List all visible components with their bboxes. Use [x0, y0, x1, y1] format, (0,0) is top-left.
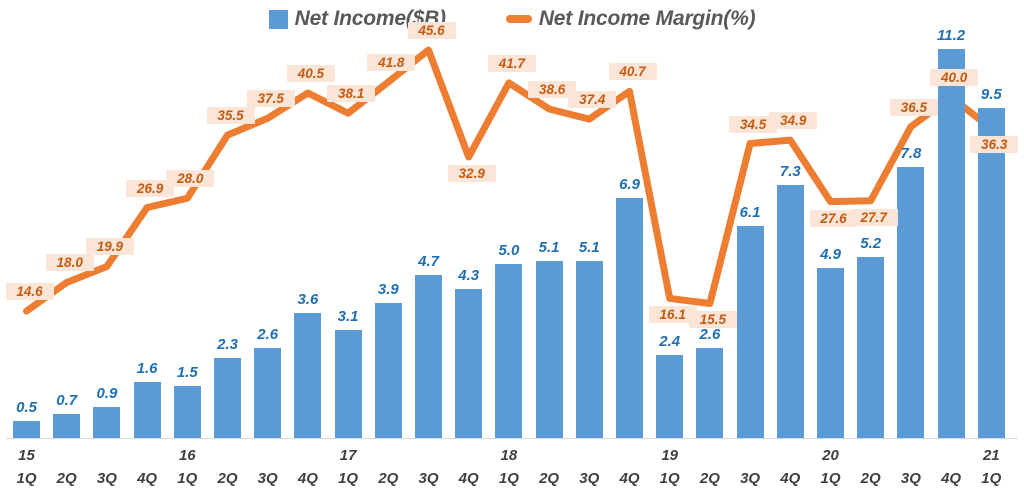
margin-value-label: 40.5 [287, 65, 335, 82]
x-axis-tick: 211Q [967, 444, 1015, 490]
margin-value-label: 36.5 [890, 99, 938, 116]
bar-2q[interactable] [53, 414, 80, 438]
margin-value-label: 38.1 [327, 85, 375, 102]
bar-4q[interactable] [938, 49, 965, 438]
x-axis-quarter-label: 1Q [967, 470, 1015, 487]
margin-value-label: 40.0 [930, 69, 978, 86]
bar-value-label: 7.8 [887, 145, 935, 162]
bar-value-label: 3.6 [284, 291, 332, 308]
bar-value-label: 2.6 [244, 326, 292, 343]
bar-value-label: 7.3 [766, 163, 814, 180]
bar-15-1q[interactable] [13, 421, 40, 438]
bar-16-1q[interactable] [174, 386, 201, 438]
margin-value-label: 14.6 [6, 283, 54, 300]
margin-value-label: 37.5 [247, 90, 295, 107]
bar-4q[interactable] [134, 382, 161, 438]
margin-value-label: 15.5 [689, 311, 737, 328]
margin-value-label: 40.7 [609, 63, 657, 80]
bar-value-label: 3.1 [324, 308, 372, 325]
bar-4q[interactable] [616, 198, 643, 438]
bar-2q[interactable] [375, 303, 402, 438]
bar-value-label: 6.9 [606, 176, 654, 193]
margin-value-label: 36.3 [970, 136, 1018, 153]
bar-19-1q[interactable] [656, 355, 683, 438]
bar-value-label: 2.6 [686, 326, 734, 343]
margin-value-label: 41.8 [367, 54, 415, 71]
bar-value-label: 4.3 [445, 267, 493, 284]
margin-value-label: 32.9 [448, 165, 496, 182]
margin-value-label: 19.9 [86, 238, 134, 255]
bar-4q[interactable] [455, 289, 482, 438]
bar-3q[interactable] [415, 275, 442, 438]
margin-value-label: 27.7 [850, 209, 898, 226]
bar-20-1q[interactable] [817, 268, 844, 438]
bar-3q[interactable] [737, 226, 764, 438]
bar-2q[interactable] [214, 358, 241, 438]
bar-value-label: 1.5 [163, 364, 211, 381]
bar-2q[interactable] [696, 348, 723, 438]
bar-3q[interactable] [254, 348, 281, 438]
bar-value-label: 9.5 [967, 86, 1015, 103]
bar-value-label: 6.1 [726, 204, 774, 221]
plot-area: 0.50.70.91.61.52.32.63.63.13.94.74.35.05… [0, 0, 1024, 490]
net-income-chart: Net Income($B) Net Income Margin(%) 0.50… [0, 0, 1024, 490]
margin-value-label: 18.0 [46, 254, 94, 271]
bar-21-1q[interactable] [978, 108, 1005, 438]
bar-4q[interactable] [777, 185, 804, 438]
margin-value-label: 41.7 [488, 55, 536, 72]
margin-value-label: 37.4 [568, 91, 616, 108]
bar-2q[interactable] [857, 257, 884, 438]
bar-2q[interactable] [536, 261, 563, 438]
bar-value-label: 11.2 [927, 27, 975, 44]
margin-value-label: 28.0 [166, 170, 214, 187]
bar-17-1q[interactable] [335, 330, 362, 438]
bar-18-1q[interactable] [495, 264, 522, 438]
bar-value-label: 5.2 [847, 235, 895, 252]
bar-value-label: 3.9 [364, 281, 412, 298]
bar-4q[interactable] [294, 313, 321, 438]
bar-3q[interactable] [93, 407, 120, 438]
margin-value-label: 45.6 [408, 22, 456, 39]
margin-value-label: 35.5 [207, 107, 255, 124]
bar-value-label: 5.1 [565, 239, 613, 256]
x-axis-year-label: 21 [967, 447, 1015, 464]
bar-3q[interactable] [897, 167, 924, 438]
bar-value-label: 0.9 [83, 385, 131, 402]
margin-value-label: 34.9 [769, 112, 817, 129]
bar-3q[interactable] [576, 261, 603, 438]
